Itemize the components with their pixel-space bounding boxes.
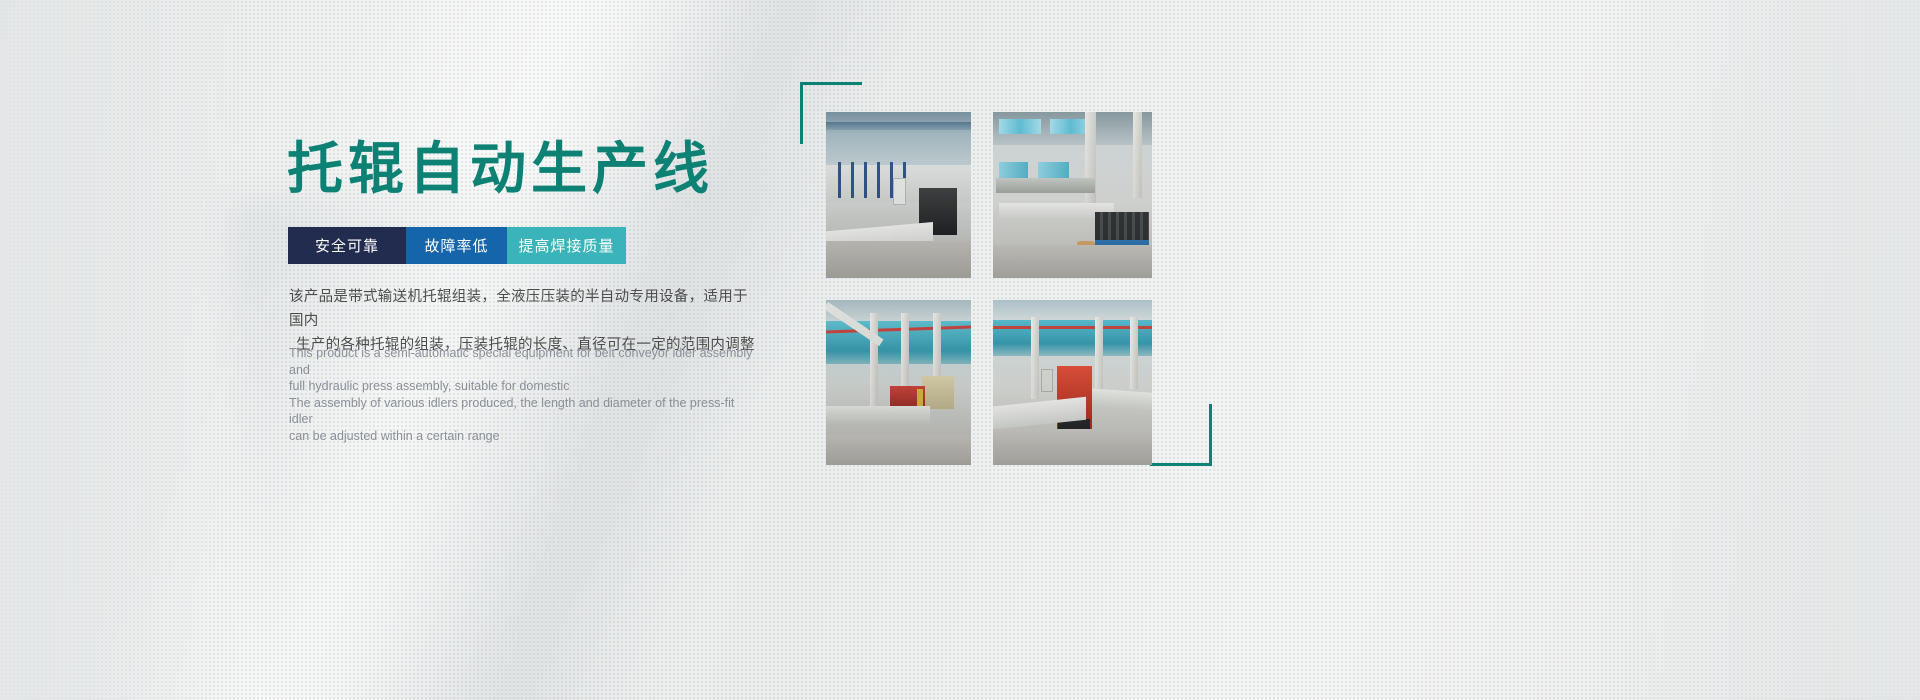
photo3-shading <box>826 300 971 465</box>
gallery-photo-1[interactable] <box>826 112 971 278</box>
feature-badge-low-failure-rate[interactable]: 故障率低 <box>406 227 507 264</box>
product-photo-gallery <box>826 82 1236 472</box>
description-english-line-1: This product is a semi-automatic special… <box>289 345 759 378</box>
feature-badge-improved-weld-quality[interactable]: 提高焊接质量 <box>507 227 626 264</box>
feature-badge-safe-reliable[interactable]: 安全可靠 <box>288 227 406 264</box>
photo1-shading <box>826 112 971 278</box>
description-english-line-2: full hydraulic press assembly, suitable … <box>289 378 759 395</box>
photo-grid <box>826 112 1152 465</box>
gallery-photo-3[interactable] <box>826 300 971 465</box>
description-chinese-line-1: 该产品是带式输送机托辊组装，全液压压装的半自动专用设备，适用于国内 <box>289 289 748 329</box>
page-title: 托辊自动生产线 <box>287 141 714 197</box>
photo4-shading <box>993 300 1152 465</box>
description-english: This product is a semi-automatic special… <box>289 345 759 444</box>
description-english-line-3: The assembly of various idlers produced,… <box>289 395 759 428</box>
background-left-fade <box>0 0 260 700</box>
photo2-shading <box>993 112 1152 278</box>
gallery-photo-2[interactable] <box>993 112 1152 278</box>
corner-bracket-bottom-right <box>1150 404 1212 466</box>
banner-text-column: 托辊自动生产线 安全可靠 故障率低 提高焊接质量 该产品是带式输送机托辊组装，全… <box>287 0 847 700</box>
gallery-photo-4[interactable] <box>993 300 1152 465</box>
feature-badge-row: 安全可靠 故障率低 提高焊接质量 <box>288 227 626 264</box>
background-right-fade <box>1600 0 1920 700</box>
description-english-line-4: can be adjusted within a certain range <box>289 428 759 445</box>
